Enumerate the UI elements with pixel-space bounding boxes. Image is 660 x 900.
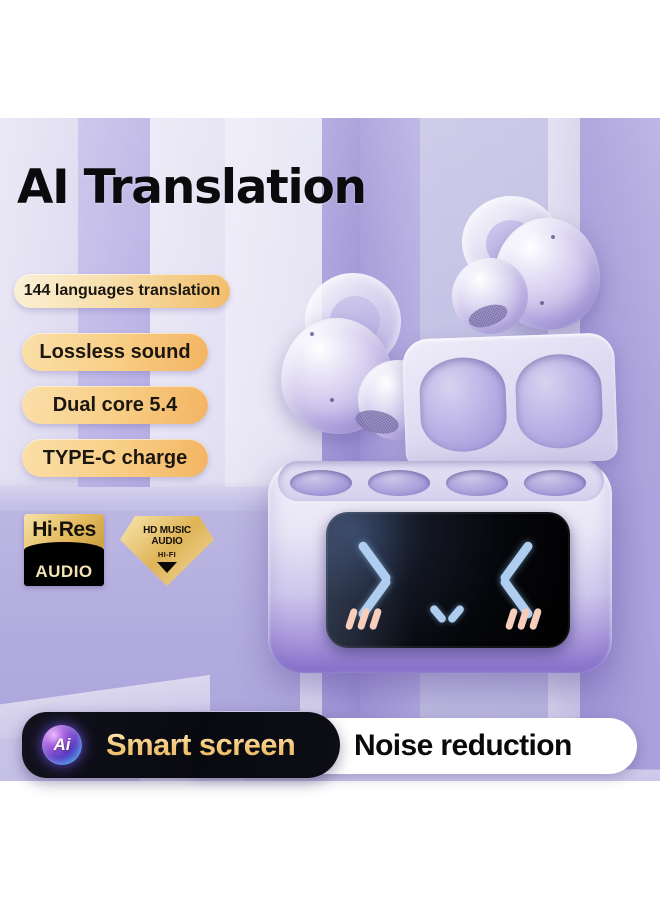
page-title: AI Translation — [17, 164, 366, 211]
ai-badge-label: Ai — [54, 735, 71, 755]
hd-music-triangle-icon — [157, 562, 177, 573]
case-lid-well-left — [419, 356, 508, 453]
hi-res-logo-top-text: Hi·Res — [24, 514, 104, 545]
hd-music-line-2: AUDIO — [151, 536, 182, 547]
earbud-mic-hole — [310, 332, 314, 336]
case-cradle-slot — [446, 470, 508, 496]
feature-pill-lossless-sound: Lossless sound — [22, 333, 208, 371]
hi-res-audio-logo: Hi·Res AUDIO — [24, 514, 104, 586]
case-cradle-slot — [368, 470, 430, 496]
earbud-mic-hole — [540, 301, 544, 305]
smart-screen-label: Smart screen — [106, 727, 295, 763]
face-blush-right — [505, 607, 518, 630]
feature-pill-type-c: TYPE-C charge — [22, 439, 208, 477]
charging-case-lid — [402, 332, 618, 467]
product-marketing-image: AI Translation 144 languages translation… — [0, 0, 660, 900]
case-cradle-slot — [524, 470, 586, 496]
earbud-mic-hole — [330, 398, 334, 402]
hi-res-logo-bottom-text: AUDIO — [24, 561, 104, 583]
feature-pill-languages: 144 languages translation — [14, 274, 230, 308]
face-blush-right — [517, 607, 530, 630]
smart-screen-banner: Ai Smart screen — [22, 712, 340, 778]
hd-music-line-3: HI-FI — [158, 550, 176, 559]
hd-music-line-1: HD MUSIC — [143, 525, 191, 536]
case-lid-well-right — [514, 353, 603, 450]
feature-pill-dual-core: Dual core 5.4 — [22, 386, 208, 424]
screen-glare — [326, 512, 507, 648]
ai-badge-icon: Ai — [42, 725, 82, 765]
case-cradle-slot — [290, 470, 352, 496]
earbud-mic-hole — [551, 235, 555, 239]
noise-reduction-label: Noise reduction — [354, 729, 572, 763]
smart-screen-display[interactable] — [326, 512, 570, 648]
